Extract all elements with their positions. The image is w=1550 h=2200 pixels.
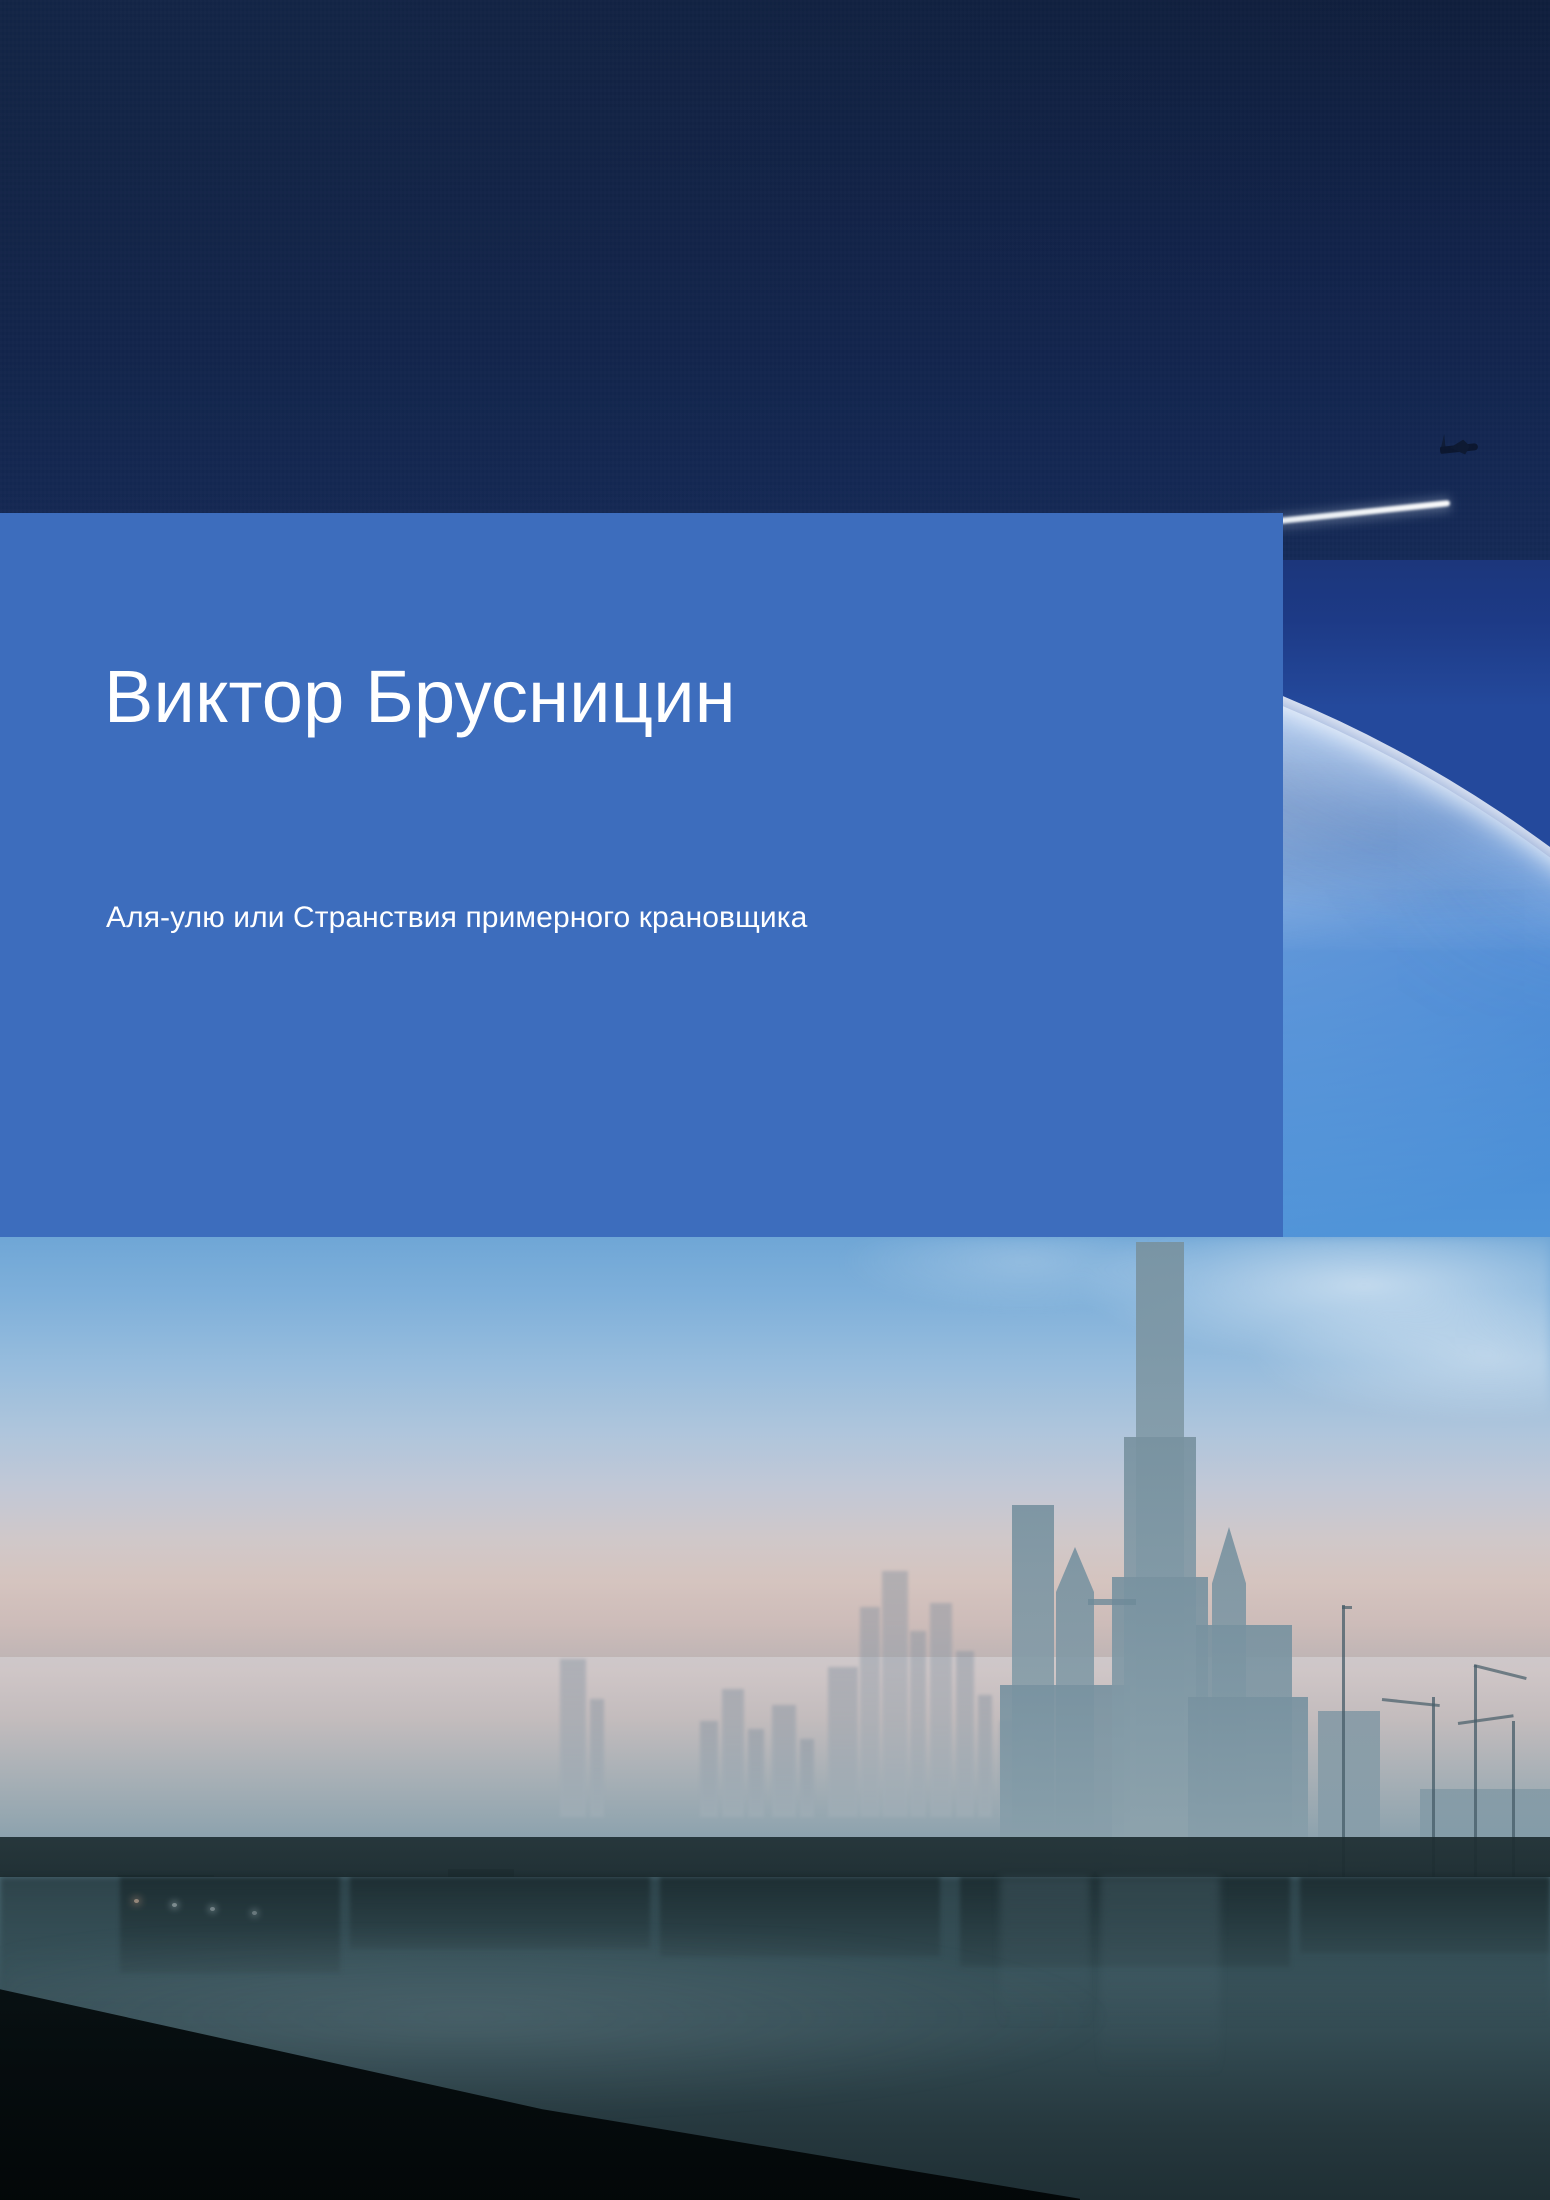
title-panel: [0, 513, 1283, 1237]
water-light-reflection: [172, 1903, 177, 1907]
sky-noise-texture: [0, 0, 1550, 560]
book-cover: Виктор Брусницин Аля-улю или Странствия …: [0, 0, 1550, 2200]
sky-bridge: [1088, 1599, 1136, 1605]
book-title: Аля-улю или Странствия примерного кранов…: [106, 903, 807, 933]
city-photograph: [0, 1237, 1550, 2200]
crane-jib-3: [1474, 1664, 1527, 1680]
night-sky: [0, 0, 1550, 560]
crane-jib-4: [1458, 1714, 1514, 1725]
airplane-wing: [1449, 439, 1470, 456]
water-light-reflection: [210, 1907, 215, 1911]
airplane-icon: [1436, 432, 1482, 460]
water-light-reflection: [134, 1899, 139, 1903]
author-name: Виктор Брусницин: [104, 660, 736, 734]
crane-jib-1: [1342, 1606, 1352, 1609]
water-light-reflection: [252, 1911, 257, 1915]
